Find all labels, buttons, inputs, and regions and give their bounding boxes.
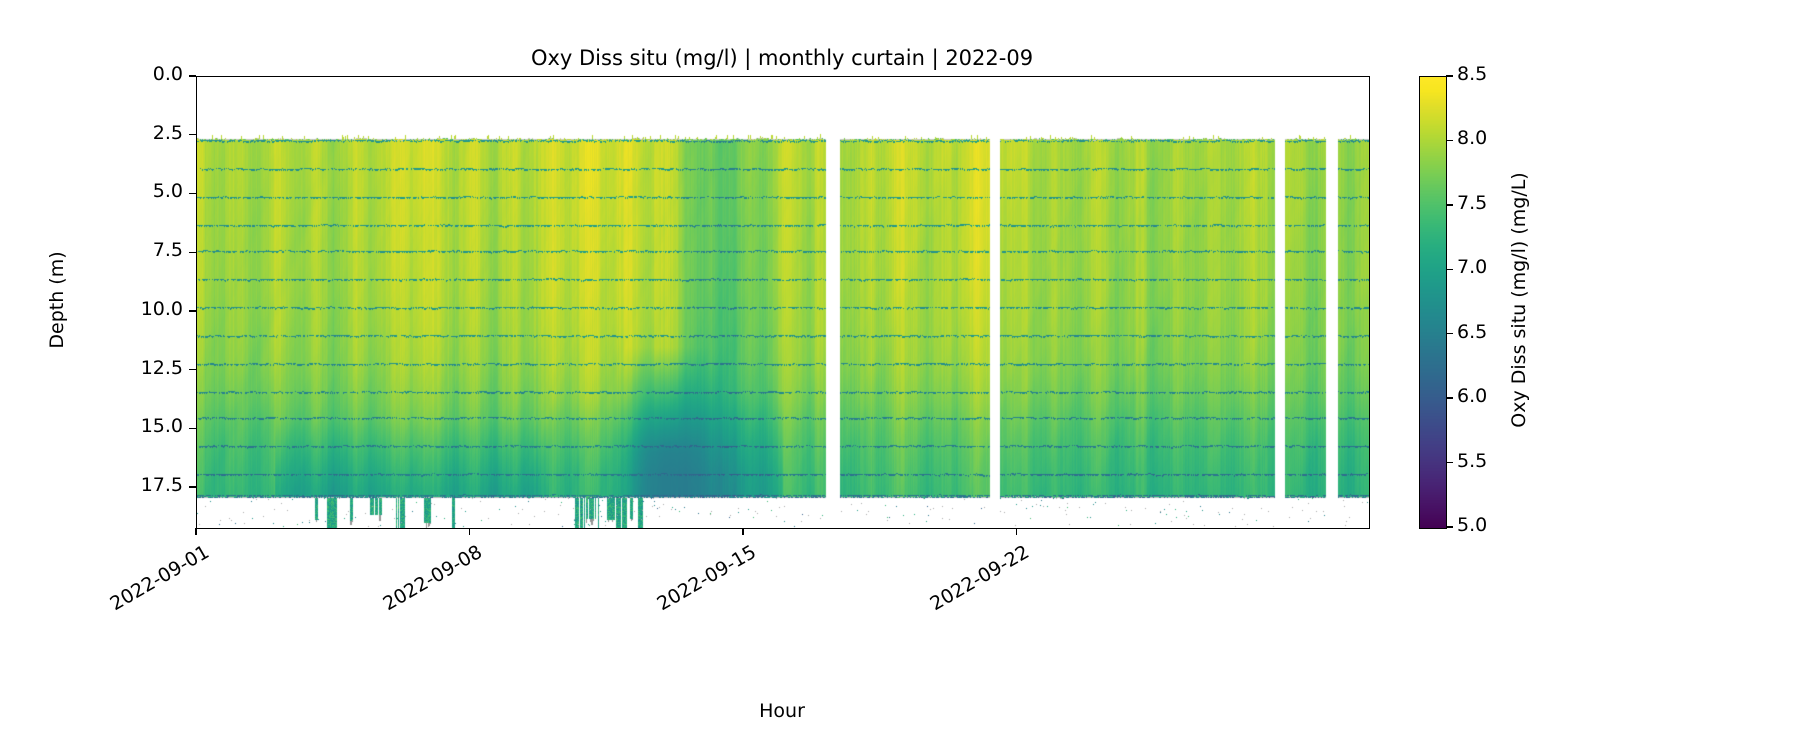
y-tick-mark [189, 134, 196, 135]
y-tick-mark [189, 428, 196, 429]
colorbar-tick-mark [1446, 333, 1453, 334]
colorbar-tick-mark [1446, 204, 1453, 205]
x-tick-label: 2022-09-15 [489, 541, 760, 710]
y-tick-label: 7.5 [0, 239, 183, 261]
colorbar-tick-mark [1446, 526, 1453, 527]
x-tick-mark [469, 528, 470, 535]
heatmap-axes[interactable] [196, 76, 1370, 529]
colorbar-tick-label: 5.0 [1457, 514, 1487, 536]
colorbar-tick-mark [1446, 397, 1453, 398]
y-tick-mark [189, 310, 196, 311]
y-tick-label: 17.5 [0, 474, 183, 496]
colorbar-label: Oxy Diss situ (mg/l) (mg/L) [1508, 100, 1530, 500]
x-axis-label: Hour [196, 700, 1368, 722]
figure-canvas: Oxy Diss situ (mg/l) | monthly curtain |… [0, 0, 1800, 750]
y-tick-label: 12.5 [0, 357, 183, 379]
y-tick-label: 10.0 [0, 298, 183, 320]
y-tick-mark [189, 252, 196, 253]
colorbar-tick-mark [1446, 462, 1453, 463]
y-axis-label: Depth (m) [46, 200, 68, 400]
colorbar-tick-label: 8.0 [1457, 127, 1487, 149]
x-tick-mark [195, 528, 196, 535]
x-tick-label: 2022-09-22 [763, 541, 1034, 710]
colorbar-tick-mark [1446, 140, 1453, 141]
colorbar-tick-label: 6.5 [1457, 321, 1487, 343]
x-tick-mark [742, 528, 743, 535]
colorbar-tick-label: 6.0 [1457, 385, 1487, 407]
colorbar[interactable] [1419, 76, 1447, 529]
y-tick-mark [189, 193, 196, 194]
colorbar-gradient [1420, 77, 1446, 528]
y-tick-mark [189, 369, 196, 370]
y-tick-label: 15.0 [0, 415, 183, 437]
colorbar-tick-label: 5.5 [1457, 450, 1487, 472]
y-tick-mark [189, 486, 196, 487]
y-tick-label: 0.0 [0, 63, 183, 85]
y-tick-mark [189, 75, 196, 76]
y-tick-label: 5.0 [0, 180, 183, 202]
x-tick-label: 2022-09-08 [216, 541, 487, 710]
colorbar-tick-mark [1446, 75, 1453, 76]
chart-title: Oxy Diss situ (mg/l) | monthly curtain |… [196, 46, 1368, 70]
heatmap-plot-area[interactable] [197, 77, 1369, 528]
colorbar-tick-label: 7.5 [1457, 192, 1487, 214]
x-tick-label: 2022-09-01 [0, 541, 213, 710]
y-tick-label: 2.5 [0, 122, 183, 144]
x-tick-mark [1016, 528, 1017, 535]
colorbar-tick-label: 7.0 [1457, 256, 1487, 278]
colorbar-tick-mark [1446, 269, 1453, 270]
colorbar-tick-label: 8.5 [1457, 63, 1487, 85]
